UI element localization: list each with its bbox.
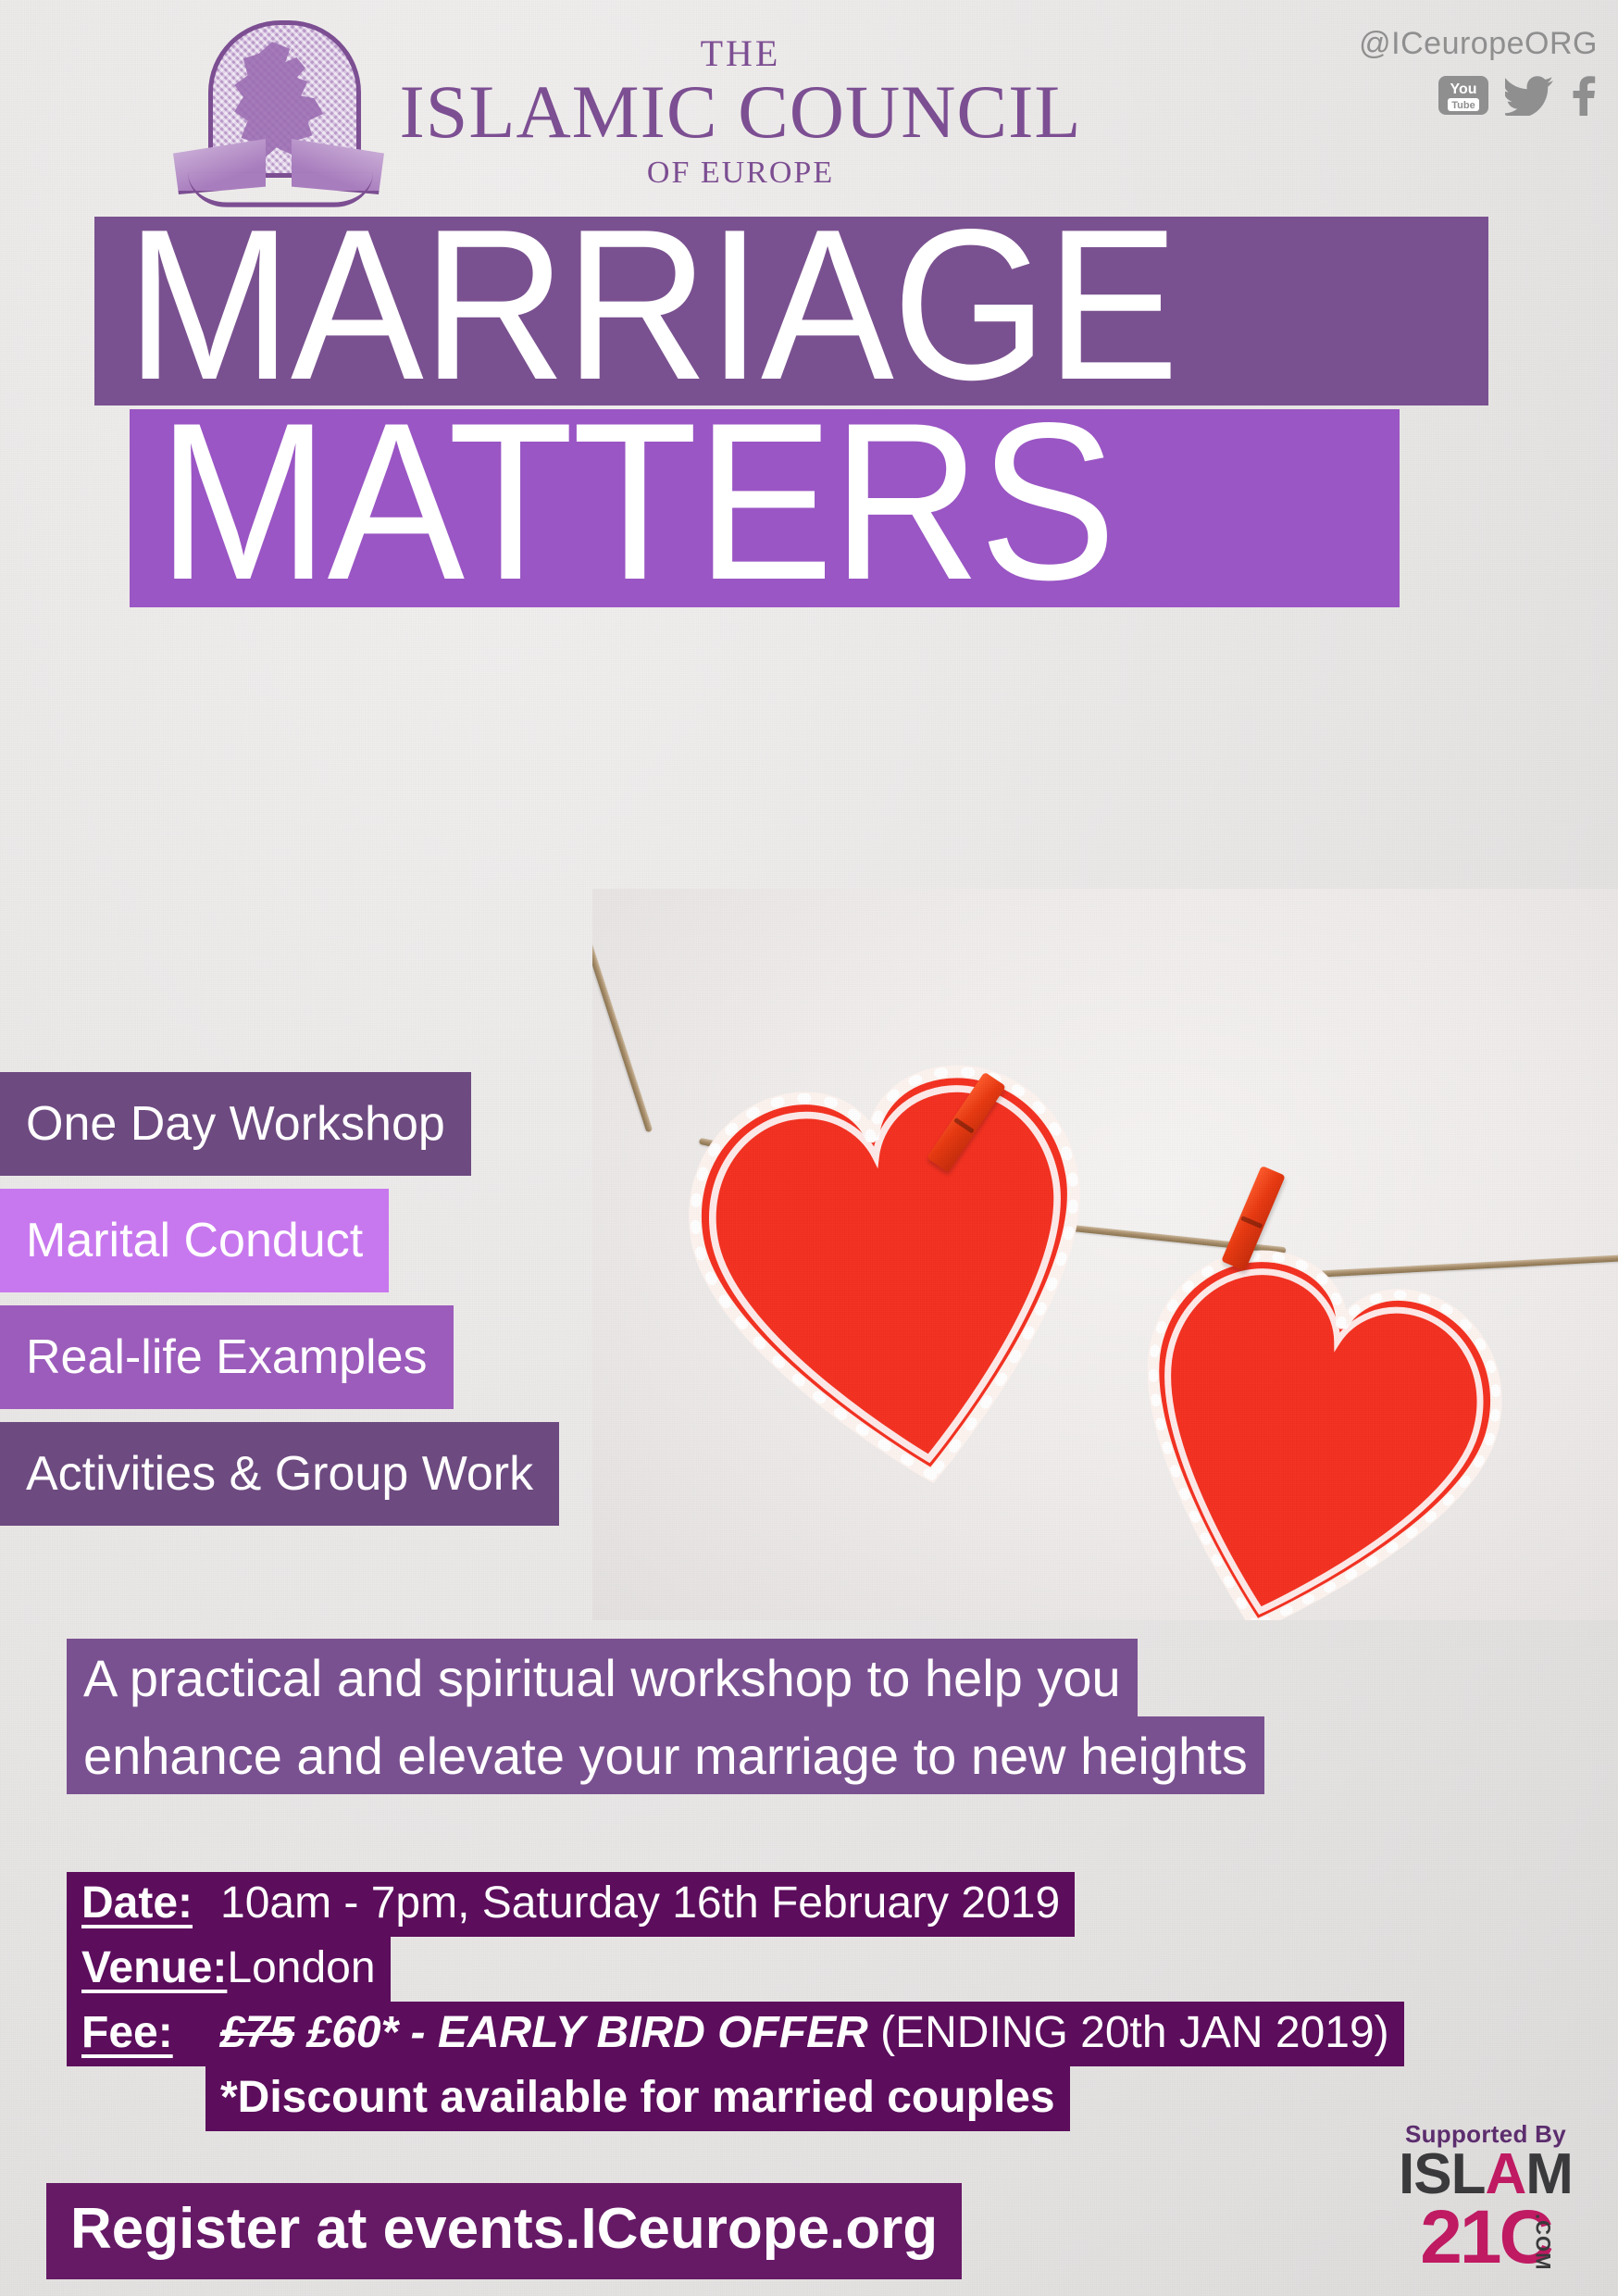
organisation-name: THE ISLAMIC COUNCIL OF EUROPE bbox=[389, 35, 1092, 191]
fee-discount-note: *Discount available for married couples bbox=[220, 2073, 1055, 2122]
detail-fee-note-band: *Discount available for married couples bbox=[205, 2066, 1070, 2131]
social-block: @ICeuropeORG You Tube bbox=[1359, 26, 1598, 116]
fee-offer-ending: (ENDING 20th JAN 2019) bbox=[880, 2008, 1389, 2057]
poster-root: THE ISLAMIC COUNCIL OF EUROPE @ICeuropeO… bbox=[0, 0, 1618, 2296]
detail-label-date: Date: bbox=[81, 1874, 220, 1933]
detail-fee-band: Fee:£75 £60* - EARLY BIRD OFFER (ENDING … bbox=[67, 2002, 1404, 2066]
detail-label-fee: Fee: bbox=[81, 2003, 220, 2063]
detail-label-venue: Venue: bbox=[81, 1939, 227, 1998]
feature-item-real-life-examples: Real-life Examples bbox=[0, 1305, 454, 1409]
feature-row: Real-life Examples bbox=[0, 1305, 559, 1422]
feature-item-one-day-workshop: One Day Workshop bbox=[0, 1072, 471, 1176]
poster-header: THE ISLAMIC COUNCIL OF EUROPE @ICeuropeO… bbox=[0, 0, 1618, 213]
social-handle: @ICeuropeORG bbox=[1359, 26, 1598, 62]
fee-new-price: £60* bbox=[306, 2008, 398, 2057]
detail-row-date: Date:10am - 7pm, Saturday 16th February … bbox=[67, 1872, 1404, 1937]
hearts-photo bbox=[592, 889, 1618, 1620]
event-details: Date:10am - 7pm, Saturday 16th February … bbox=[67, 1872, 1404, 2131]
detail-date-band: Date:10am - 7pm, Saturday 16th February … bbox=[67, 1872, 1075, 1937]
feature-row: Marital Conduct bbox=[0, 1189, 559, 1305]
feature-item-activities-group-work: Activities & Group Work bbox=[0, 1422, 559, 1526]
detail-row-fee-note: *Discount available for married couples bbox=[67, 2066, 1404, 2131]
feature-list: One Day Workshop Marital Conduct Real-li… bbox=[0, 1072, 559, 1539]
register-cta[interactable]: Register at events.ICeurope.org bbox=[46, 2183, 962, 2279]
heart-left-icon bbox=[648, 1017, 1148, 1547]
org-name-the: THE bbox=[389, 35, 1092, 72]
title-line-2: MATTERS bbox=[157, 402, 1114, 602]
islam21c-wordmark-line1: ISLAM bbox=[1383, 2148, 1588, 2202]
islam21c-tld: .COM bbox=[1531, 2214, 1555, 2270]
youtube-icon[interactable]: You Tube bbox=[1438, 76, 1488, 115]
svg-text:You: You bbox=[1450, 81, 1476, 97]
description-line-2: enhance and elevate your marriage to new… bbox=[67, 1716, 1264, 1794]
feature-item-marital-conduct: Marital Conduct bbox=[0, 1189, 389, 1292]
fee-old-price: £75 bbox=[220, 2008, 294, 2057]
fee-offer-label: EARLY BIRD OFFER bbox=[438, 2008, 868, 2057]
twine-segment bbox=[592, 889, 653, 1132]
org-name-main: ISLAMIC COUNCIL bbox=[389, 72, 1092, 152]
detail-venue-band: Venue:London bbox=[67, 1937, 391, 2002]
feature-row: One Day Workshop bbox=[0, 1072, 559, 1189]
fee-dash: - bbox=[411, 2008, 426, 2057]
twitter-icon[interactable] bbox=[1505, 75, 1553, 116]
organisation-logo bbox=[180, 20, 380, 201]
detail-row-fee: Fee:£75 £60* - EARLY BIRD OFFER (ENDING … bbox=[67, 2002, 1404, 2066]
title-line-1: MARRIAGE bbox=[126, 211, 1177, 400]
description-block: A practical and spiritual workshop to he… bbox=[67, 1639, 1390, 1794]
svg-text:Tube: Tube bbox=[1451, 100, 1475, 111]
islam21c-wordmark-line2: 21C .COM bbox=[1420, 2202, 1550, 2272]
facebook-icon[interactable] bbox=[1570, 75, 1598, 116]
title-band-matters: MATTERS bbox=[130, 409, 1400, 607]
description-line-1: A practical and spiritual workshop to he… bbox=[67, 1639, 1138, 1716]
heart-right-icon bbox=[1060, 1195, 1551, 1620]
detail-value-venue: London bbox=[227, 1939, 375, 1998]
detail-value-date: 10am - 7pm, Saturday 16th February 2019 bbox=[220, 1874, 1060, 1933]
detail-row-venue: Venue:London bbox=[67, 1937, 1404, 2002]
supporter-logo: Supported By ISLAM 21C .COM bbox=[1383, 2122, 1588, 2272]
feature-row: Activities & Group Work bbox=[0, 1422, 559, 1539]
social-icons: You Tube bbox=[1359, 75, 1598, 116]
